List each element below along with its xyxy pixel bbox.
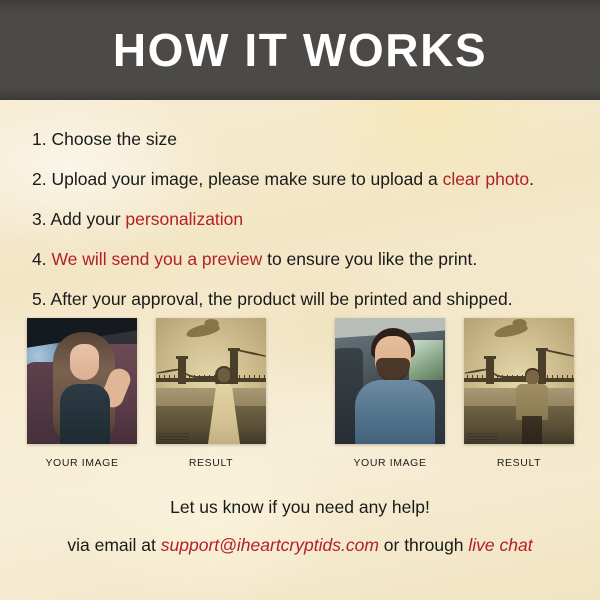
step-item-2: 2. Upload your image, please make sure t…	[32, 159, 580, 199]
step-item-5: 5. After your approval, the product will…	[32, 279, 580, 319]
step-text-2-part-1: Upload your image, please make sure to u…	[51, 169, 442, 189]
person-figure-woman	[206, 368, 242, 444]
step-highlight-preview: We will send you a preview	[51, 249, 262, 269]
example-1-source-cell: YOUR IMAGE	[27, 318, 137, 469]
page-title: HOW IT WORKS	[113, 27, 487, 73]
step-highlight-personalization: personalization	[125, 209, 243, 229]
figure-legs-shape	[522, 416, 542, 444]
car-seat-secondary-shape	[27, 362, 53, 444]
example-pairs: YOUR IMAGE	[0, 318, 600, 478]
step-text-2-part-3: .	[529, 169, 534, 189]
support-email-link[interactable]: support@iheartcryptids.com	[161, 535, 379, 555]
example-2-source-cell: YOUR IMAGE	[335, 318, 445, 469]
face-shape	[70, 344, 99, 380]
step-highlight-clear-photo: clear photo	[443, 169, 530, 189]
torso-shape	[355, 380, 435, 444]
step-text-3-part-1: Add your	[51, 209, 126, 229]
help-line: Let us know if you need any help!	[0, 492, 600, 522]
bridge-tower-left	[486, 356, 494, 384]
poster-caption-marks	[467, 432, 497, 440]
step-number-2: 2.	[32, 169, 47, 189]
photo-thumbnail-result-man	[464, 318, 574, 444]
figure-head-shape	[526, 370, 539, 385]
step-text-1-part-1: Choose the size	[51, 129, 177, 149]
example-2-result-cell: RESULT	[464, 318, 574, 469]
steps-list: 1. Choose the size 2. Upload your image,…	[32, 119, 580, 319]
contact-prefix: via email at	[67, 535, 160, 555]
step-number-1: 1.	[32, 129, 47, 149]
torso-shape	[60, 384, 110, 444]
beard-shape	[376, 358, 410, 382]
header-bar: HOW IT WORKS	[0, 0, 600, 100]
figure-head-shape	[218, 368, 230, 382]
step-text-5-part-1: After your approval, the product will be…	[51, 289, 513, 309]
figure-dress-shape	[208, 384, 240, 444]
step-number-5: 5.	[32, 289, 47, 309]
step-item-4: 4. We will send you a preview to ensure …	[32, 239, 580, 279]
photo-thumbnail-source-woman	[27, 318, 137, 444]
bridge-tower-left	[178, 356, 186, 384]
caption-result-2: RESULT	[464, 457, 574, 469]
person-figure-man	[512, 370, 552, 444]
how-it-works-infographic: HOW IT WORKS 1. Choose the size 2. Uploa…	[0, 0, 600, 600]
caption-your-image-1: YOUR IMAGE	[27, 457, 137, 469]
step-item-1: 1. Choose the size	[32, 119, 580, 159]
poster-caption-marks	[159, 432, 189, 440]
caption-your-image-2: YOUR IMAGE	[335, 457, 445, 469]
step-number-3: 3.	[32, 209, 47, 229]
step-item-3: 3. Add your personalization	[32, 199, 580, 239]
figure-coat-shape	[516, 384, 548, 420]
footer: Let us know if you need any help! via em…	[0, 492, 600, 560]
photo-thumbnail-source-man	[335, 318, 445, 444]
contact-line: via email at support@iheartcryptids.com …	[0, 530, 600, 560]
caption-result-1: RESULT	[156, 457, 266, 469]
example-1-result-cell: RESULT	[156, 318, 266, 469]
step-number-4: 4.	[32, 249, 47, 269]
photo-thumbnail-result-woman	[156, 318, 266, 444]
contact-middle: or through	[379, 535, 469, 555]
step-text-4-part-2: to ensure you like the print.	[262, 249, 477, 269]
live-chat-link[interactable]: live chat	[468, 535, 532, 555]
